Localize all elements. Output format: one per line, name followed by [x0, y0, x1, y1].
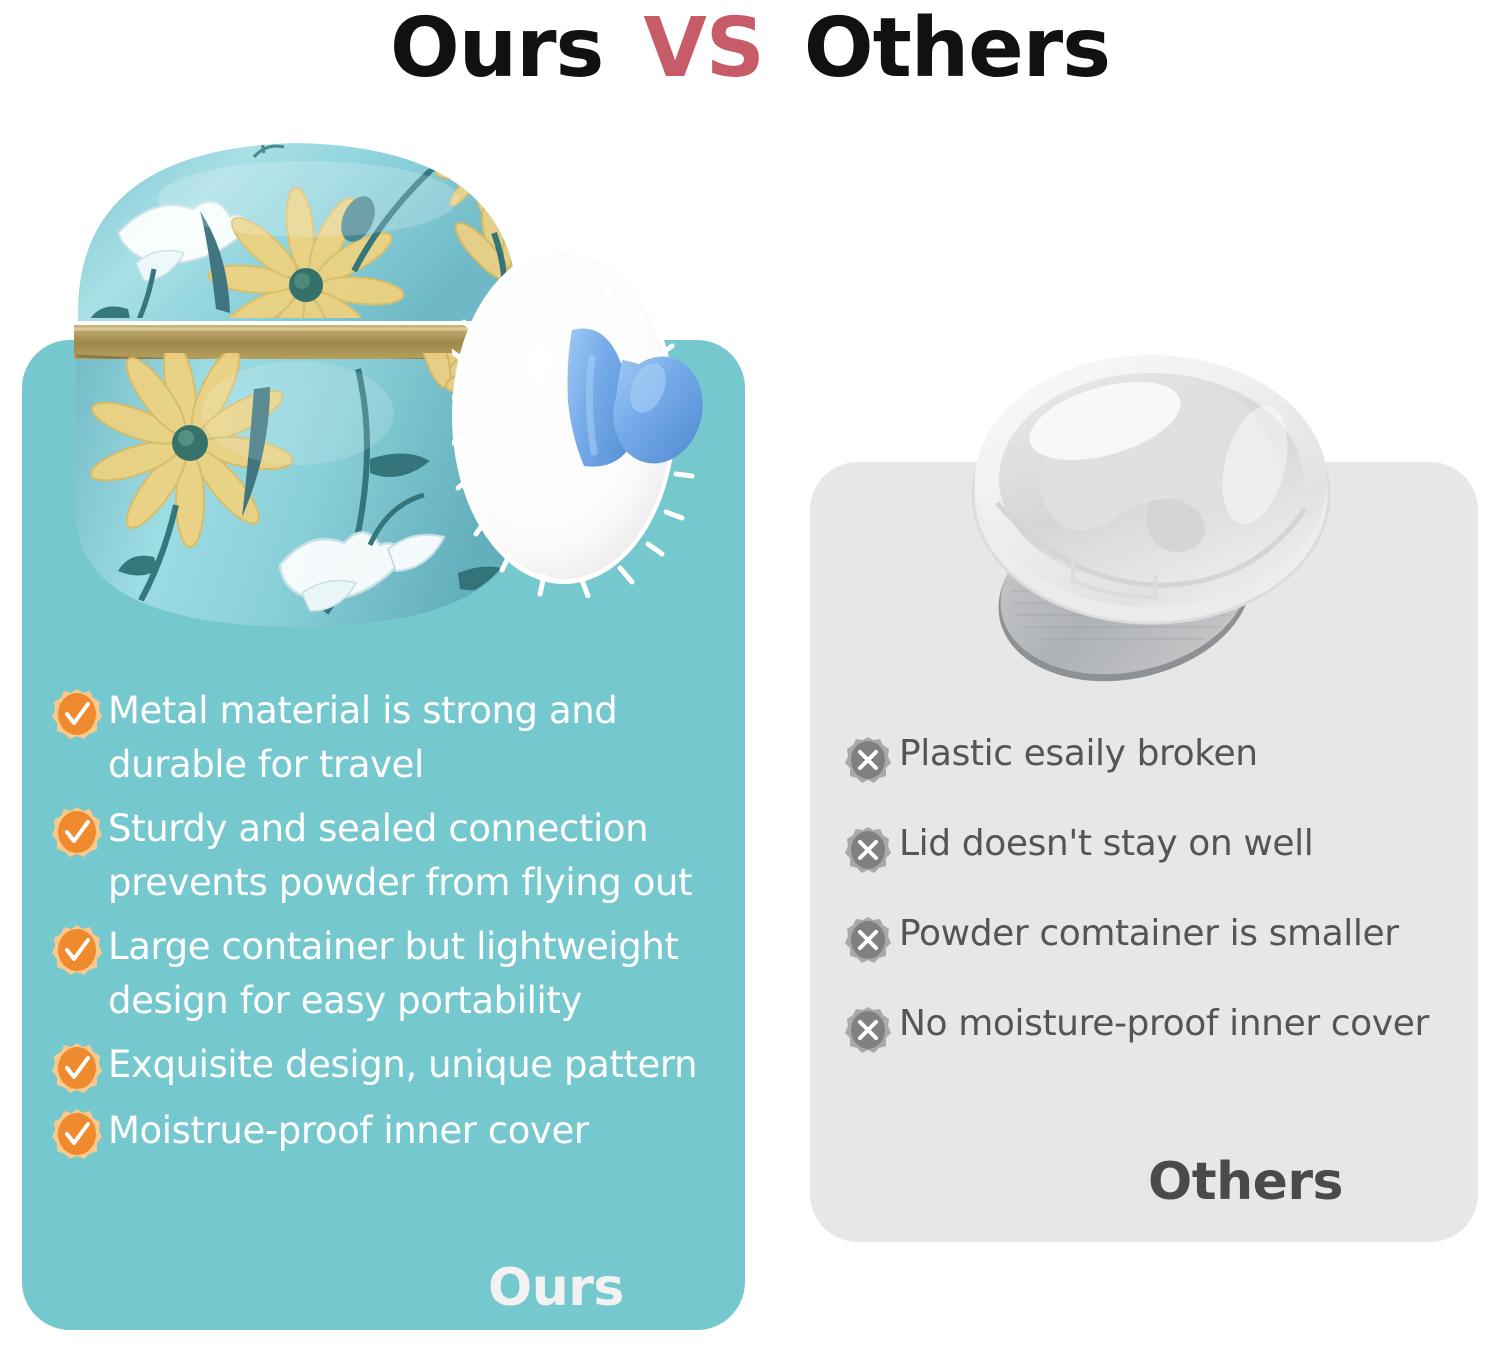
check-badge-icon	[52, 1108, 102, 1160]
list-item: Exquisite design, unique pattern	[52, 1038, 720, 1094]
list-item: Powder comtainer is smaller	[845, 912, 1469, 964]
x-badge-icon	[845, 1006, 891, 1054]
others-panel-label: Others	[1148, 1152, 1343, 1212]
list-item-label: Large container but lightweight design f…	[108, 920, 720, 1028]
list-item: Sturdy and sealed connection prevents po…	[52, 802, 720, 910]
list-item: Plastic esaily broken	[845, 732, 1469, 784]
page-title: Ours VS Others	[0, 0, 1500, 98]
list-item-label: Lid doesn't stay on well	[899, 822, 1313, 865]
x-badge-icon	[845, 916, 891, 964]
powder-puff-with-blue-handle-image	[452, 238, 718, 598]
title-ours-word: Ours	[390, 8, 603, 90]
ours-panel-label: Ours	[488, 1258, 624, 1318]
list-item: Large container but lightweight design f…	[52, 920, 720, 1028]
list-item-label: No moisture-proof inner cover	[899, 1002, 1429, 1045]
ours-feature-list: Metal material is strong and durable for…	[52, 684, 720, 1170]
x-badge-icon	[845, 736, 891, 784]
list-item-label: Metal material is strong and durable for…	[108, 684, 720, 792]
list-item-label: Sturdy and sealed connection prevents po…	[108, 802, 720, 910]
title-others-word: Others	[804, 8, 1110, 90]
check-badge-icon	[52, 806, 102, 858]
check-badge-icon	[52, 1042, 102, 1094]
comparison-infographic: Ours VS Others	[0, 0, 1500, 1351]
title-vs-word: VS	[643, 8, 764, 90]
list-item-label: Moistrue-proof inner cover	[108, 1104, 589, 1158]
list-item-label: Powder comtainer is smaller	[899, 912, 1399, 955]
list-item: No moisture-proof inner cover	[845, 1002, 1469, 1054]
list-item: Moistrue-proof inner cover	[52, 1104, 720, 1160]
check-badge-icon	[52, 688, 102, 740]
others-drawback-list: Plastic esaily broken Lid doesn't stay o…	[845, 732, 1469, 1092]
x-badge-icon	[845, 826, 891, 874]
list-item-label: Exquisite design, unique pattern	[108, 1038, 697, 1092]
check-badge-icon	[52, 924, 102, 976]
list-item-label: Plastic esaily broken	[899, 732, 1258, 775]
list-item: Metal material is strong and durable for…	[52, 684, 720, 792]
clear-plastic-powder-case-image	[955, 335, 1345, 690]
list-item: Lid doesn't stay on well	[845, 822, 1469, 874]
